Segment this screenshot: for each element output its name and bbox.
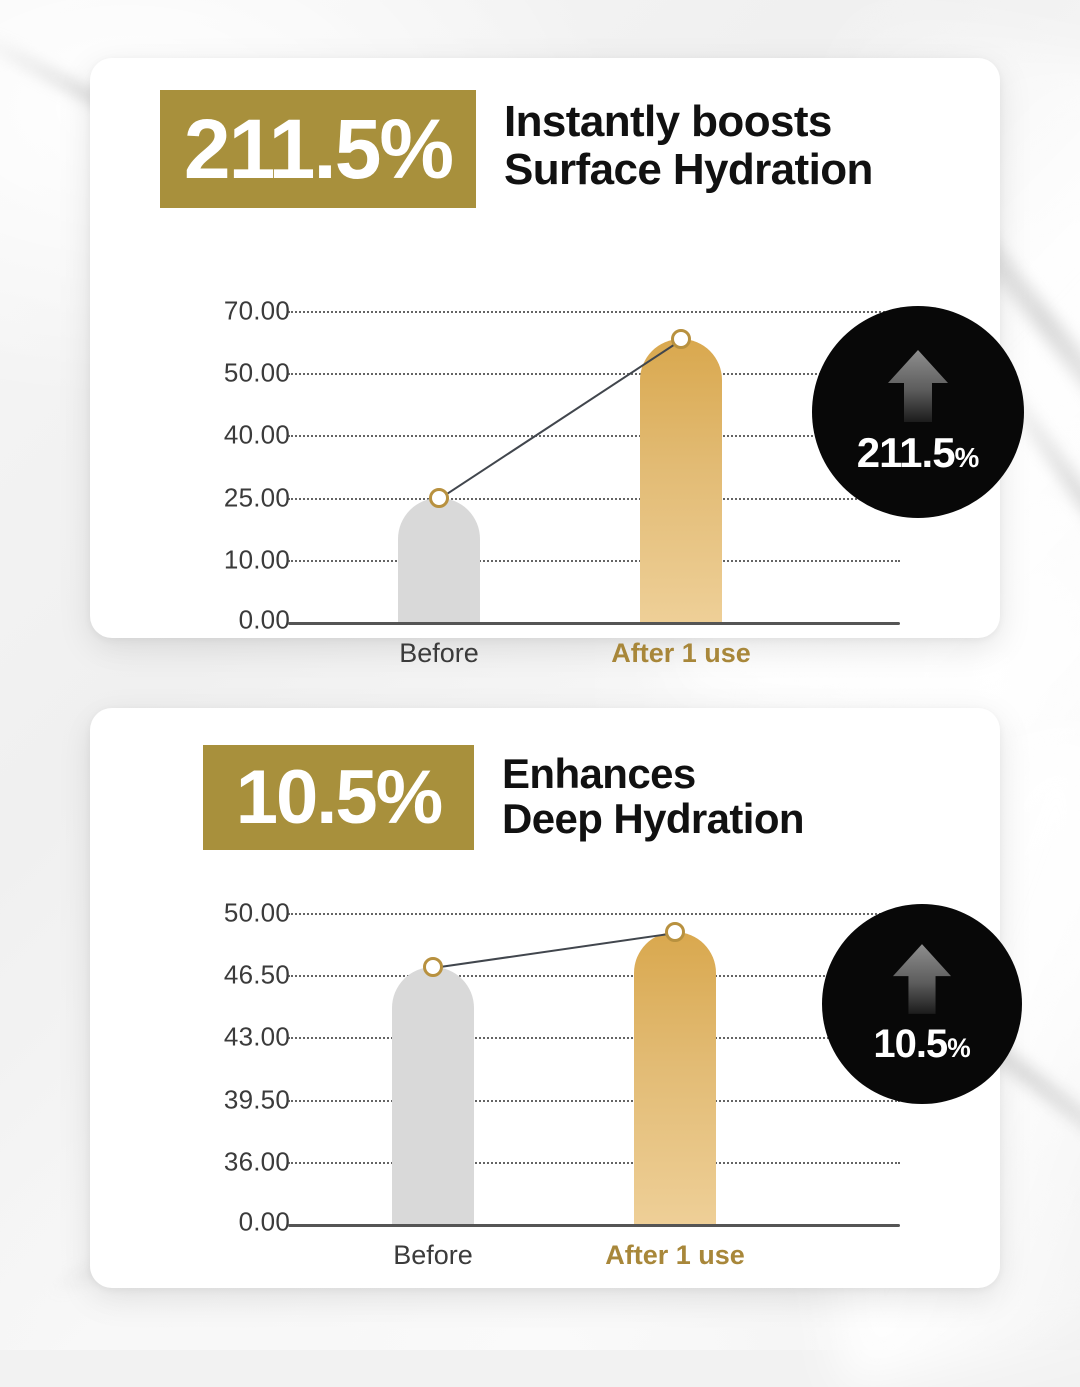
x-axis-line (288, 1224, 900, 1227)
y-tick-label: 46.50 (110, 960, 290, 991)
uplift-badge: 10.5% (822, 904, 1022, 1104)
y-tick-label: 10.00 (110, 545, 290, 576)
y-axis-labels: 70.00 50.00 40.00 25.00 10.00 0.00 (90, 276, 290, 676)
card-title-line2: Deep Hydration (502, 796, 804, 841)
y-tick-label: 39.50 (110, 1085, 290, 1116)
data-point-marker-before (423, 957, 443, 977)
up-arrow-icon (892, 944, 952, 1014)
bar-after (634, 932, 716, 1224)
y-tick-label: 40.00 (110, 420, 290, 451)
x-tick-label-before: Before (393, 1240, 473, 1271)
stat-badge: 211.5% (160, 90, 476, 208)
stat-badge: 10.5% (203, 745, 474, 850)
stat-card-surface-hydration: 211.5% Instantly boosts Surface Hydratio… (90, 58, 1000, 638)
gridline (288, 435, 900, 437)
plot-area (288, 878, 900, 1224)
gridline (288, 913, 900, 915)
x-tick-label-after: After 1 use (605, 1240, 745, 1271)
uplift-percent-sign: % (947, 1033, 970, 1063)
card-title-line1: Enhances (502, 750, 696, 797)
uplift-badge: 211.5% (812, 306, 1024, 518)
gridline (288, 560, 900, 562)
gridline (288, 498, 900, 500)
stat-card-deep-hydration: 10.5% Enhances Deep Hydration 50.00 46.5… (90, 708, 1000, 1288)
card-header: 10.5% Enhances Deep Hydration (203, 745, 804, 850)
uplift-value: 10.5% (873, 1024, 970, 1064)
uplift-number: 10.5 (873, 1022, 947, 1066)
card-title-line2: Surface Hydration (504, 146, 873, 194)
card-title: Instantly boosts Surface Hydration (504, 98, 873, 193)
y-tick-label: 50.00 (110, 898, 290, 929)
data-point-marker-before (429, 488, 449, 508)
stat-badge-value: 211.5% (184, 107, 452, 191)
card-title-line1: Instantly boosts (504, 97, 832, 146)
up-arrow-icon (887, 350, 949, 422)
y-tick-label: 0.00 (110, 1207, 290, 1238)
gridline (288, 373, 900, 375)
y-axis-labels: 50.00 46.50 43.00 39.50 36.00 0.00 (90, 878, 290, 1323)
x-tick-label-after: After 1 use (611, 638, 751, 669)
y-tick-label: 36.00 (110, 1147, 290, 1178)
uplift-percent-sign: % (955, 442, 980, 473)
bar-before (392, 967, 474, 1224)
gridline (288, 311, 900, 313)
gridline (288, 975, 900, 977)
plot-area (288, 276, 900, 622)
data-point-marker-after (665, 922, 685, 942)
y-tick-label: 0.00 (110, 605, 290, 636)
y-tick-label: 43.00 (110, 1022, 290, 1053)
data-point-marker-after (671, 329, 691, 349)
uplift-value: 211.5% (857, 432, 979, 474)
gridline (288, 1162, 900, 1164)
card-header: 211.5% Instantly boosts Surface Hydratio… (160, 90, 873, 208)
card-title: Enhances Deep Hydration (502, 751, 804, 842)
x-axis-line (288, 622, 900, 625)
bar-before (398, 498, 480, 622)
bar-after (640, 339, 722, 622)
gridline (288, 1037, 900, 1039)
gridline (288, 1100, 900, 1102)
y-tick-label: 50.00 (110, 358, 290, 389)
x-tick-label-before: Before (399, 638, 479, 669)
y-tick-label: 25.00 (110, 483, 290, 514)
y-tick-label: 70.00 (110, 296, 290, 327)
stat-badge-value: 10.5% (236, 760, 442, 836)
uplift-number: 211.5 (857, 429, 955, 476)
